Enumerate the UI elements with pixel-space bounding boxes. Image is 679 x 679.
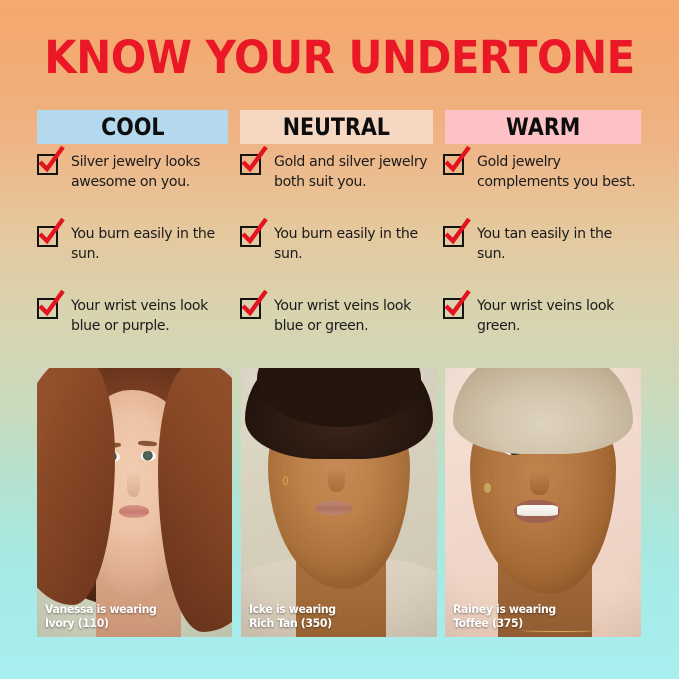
checklist-column-cool: Silver jewelry looks awesome on you. You… xyxy=(37,152,237,346)
checkbox[interactable] xyxy=(240,154,261,175)
smiling-mouth xyxy=(514,500,560,523)
checklist-column-neutral: Gold and silver jewelry both suit you. Y… xyxy=(240,152,440,346)
caption-line-2: Rich Tan (350) xyxy=(249,617,336,631)
nose xyxy=(127,469,140,496)
checkmark-icon xyxy=(442,217,472,247)
lips xyxy=(119,505,149,518)
caption-line-1: Rainey is wearing xyxy=(453,603,556,617)
checklist-item-text: Your wrist veins look blue or purple. xyxy=(71,296,231,335)
eye-right xyxy=(141,451,156,461)
checkbox[interactable] xyxy=(443,226,464,247)
model-photo-row: Vanessa is wearing Ivory (110) xyxy=(37,368,641,637)
checklist-item[interactable]: Your wrist veins look blue or purple. xyxy=(37,296,237,346)
teeth xyxy=(517,505,558,516)
checkbox[interactable] xyxy=(37,154,58,175)
nose xyxy=(328,466,345,493)
checklist-item[interactable]: You burn easily in the sun. xyxy=(240,224,440,274)
checkbox[interactable] xyxy=(240,226,261,247)
model-photo-neutral: Icke is wearing Rich Tan (350) xyxy=(241,368,437,637)
header-neutral: NEUTRAL xyxy=(240,110,433,144)
checklist-item[interactable]: You tan easily in the sun. xyxy=(443,224,643,274)
stud-earring-icon xyxy=(283,476,289,485)
checklist-item-text: Gold and silver jewelry both suit you. xyxy=(274,152,434,191)
stud-earring-icon xyxy=(484,483,491,493)
caption-line-2: Ivory (110) xyxy=(45,617,156,631)
checkmark-icon xyxy=(239,217,269,247)
photo-caption-cool: Vanessa is wearing Ivory (110) xyxy=(45,603,156,630)
checklist-item-text: You burn easily in the sun. xyxy=(274,224,434,263)
eyebrow-right xyxy=(138,440,158,446)
header-warm: WARM xyxy=(445,110,641,144)
checklist-column-warm: Gold jewelry complements you best. You t… xyxy=(443,152,643,346)
checklist-item[interactable]: Your wrist veins look blue or green. xyxy=(240,296,440,346)
undertone-header-row: COOL NEUTRAL WARM xyxy=(37,110,641,144)
checklist-grid: Silver jewelry looks awesome on you. You… xyxy=(37,152,645,352)
header-warm-label: WARM xyxy=(506,113,580,141)
infographic-canvas: KNOW YOUR UNDERTONE COOL NEUTRAL WARM Si… xyxy=(0,0,679,679)
checklist-item[interactable]: Your wrist veins look green. xyxy=(443,296,643,346)
checkmark-icon xyxy=(239,145,269,175)
checklist-item-text: Your wrist veins look green. xyxy=(477,296,637,335)
caption-line-1: Vanessa is wearing xyxy=(45,603,156,617)
lips xyxy=(315,501,352,515)
photo-caption-warm: Rainey is wearing Toffee (375) xyxy=(453,603,556,630)
checklist-item-text: Your wrist veins look blue or green. xyxy=(274,296,434,335)
checkbox[interactable] xyxy=(37,298,58,319)
nose xyxy=(530,470,549,495)
checklist-item[interactable]: Silver jewelry looks awesome on you. xyxy=(37,152,237,202)
checklist-item-text: You tan easily in the sun. xyxy=(477,224,637,263)
hair-buzzcut xyxy=(453,368,633,454)
checklist-item[interactable]: You burn easily in the sun. xyxy=(37,224,237,274)
checklist-item-text: You burn easily in the sun. xyxy=(71,224,231,263)
checkmark-icon xyxy=(36,145,66,175)
checkbox[interactable] xyxy=(443,154,464,175)
checkbox[interactable] xyxy=(240,298,261,319)
checkbox[interactable] xyxy=(37,226,58,247)
page-title: KNOW YOUR UNDERTONE xyxy=(24,34,655,82)
checkbox[interactable] xyxy=(443,298,464,319)
checkmark-icon xyxy=(442,289,472,319)
caption-line-2: Toffee (375) xyxy=(453,617,556,631)
checkmark-icon xyxy=(36,217,66,247)
checklist-item[interactable]: Gold jewelry complements you best. xyxy=(443,152,643,202)
header-cool-label: COOL xyxy=(101,113,164,141)
necklace-chain xyxy=(512,636,606,637)
checkmark-icon xyxy=(239,289,269,319)
checkmark-icon xyxy=(36,289,66,319)
header-cool: COOL xyxy=(37,110,228,144)
checkmark-icon xyxy=(442,145,472,175)
checklist-item[interactable]: Gold and silver jewelry both suit you. xyxy=(240,152,440,202)
photo-caption-neutral: Icke is wearing Rich Tan (350) xyxy=(249,603,336,630)
checklist-item-text: Silver jewelry looks awesome on you. xyxy=(71,152,231,191)
model-photo-warm: Rainey is wearing Toffee (375) xyxy=(445,368,641,637)
caption-line-1: Icke is wearing xyxy=(249,603,336,617)
checklist-item-text: Gold jewelry complements you best. xyxy=(477,152,637,191)
model-photo-cool: Vanessa is wearing Ivory (110) xyxy=(37,368,232,637)
header-neutral-label: NEUTRAL xyxy=(283,113,390,141)
